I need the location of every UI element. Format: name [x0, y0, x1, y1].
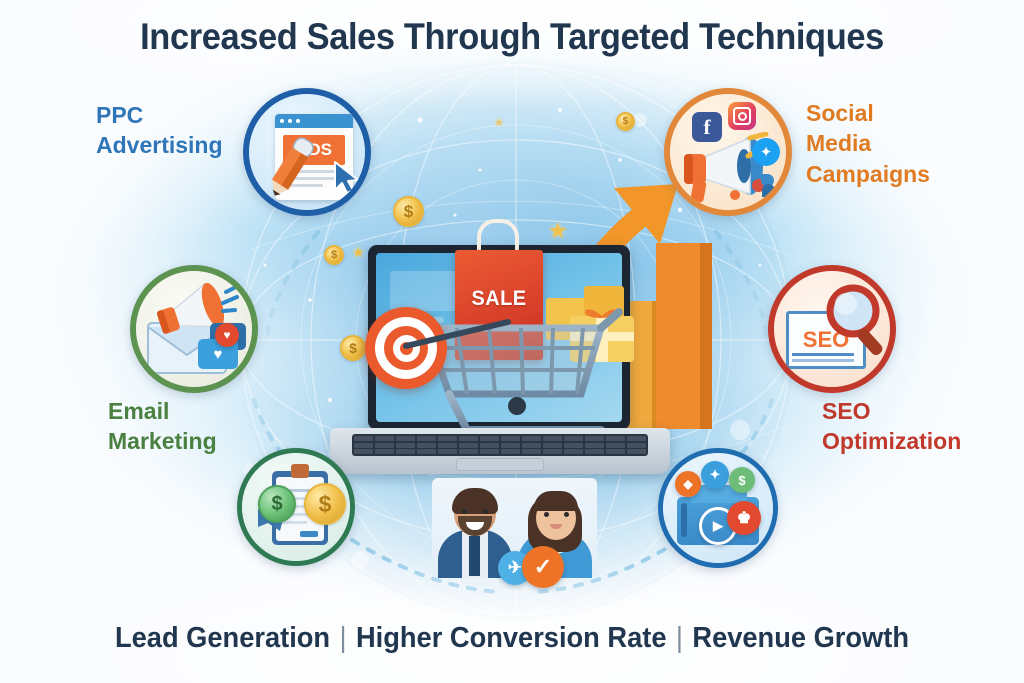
footer-item-higher-conversion-rate: Higher Conversion Rate	[356, 622, 667, 654]
sound-lines-icon	[220, 285, 246, 315]
footer-item-lead-generation: Lead Generation	[115, 622, 330, 654]
infographic-canvas: $ $ $ $ $ $ ★ ★ ★ ★ ★ Increased Sales Th…	[0, 0, 1024, 683]
label-line: Email	[108, 396, 278, 426]
label-line: Advertising	[96, 130, 236, 160]
label-seo-optimization: SEO Optimization	[822, 396, 1002, 457]
tag-badge-icon: ◆	[675, 471, 701, 497]
label-line: Media	[806, 128, 966, 158]
facebook-icon: f	[692, 112, 722, 142]
star-badge-icon: ✦	[701, 461, 729, 489]
coin-icon: $	[616, 112, 635, 131]
node-seo-optimization[interactable]: SEO	[768, 265, 896, 393]
label-email-marketing: Email Marketing	[108, 396, 278, 457]
label-line: Optimization	[822, 426, 1002, 456]
pinwheel-icon	[752, 174, 776, 198]
check-badge-icon: ✓	[522, 546, 564, 588]
money-badge-icon: $	[729, 467, 755, 493]
coin-icon: $	[340, 335, 366, 361]
magnifier-icon	[822, 283, 896, 361]
node-email-marketing[interactable]: ♥ ♥	[130, 265, 258, 393]
twitter-icon: ✦	[752, 138, 780, 166]
dart-arrow-icon	[400, 318, 520, 358]
label-social-media-campaigns: Social Media Campaigns	[806, 98, 966, 189]
footer-separator: |	[330, 622, 356, 654]
footer-item-revenue-growth: Revenue Growth	[692, 622, 909, 654]
node-ppc-advertising[interactable]: ADS	[243, 88, 371, 216]
footer-benefits: Lead Generation|Higher Conversion Rate|R…	[31, 622, 994, 655]
crown-badge-icon: ♚	[727, 501, 761, 535]
node-content-media[interactable]: ▶ ◆ ✦ $ ♚	[658, 448, 778, 568]
coin-icon: $	[324, 245, 344, 265]
cursor-icon	[331, 160, 365, 196]
label-line: Campaigns	[806, 159, 966, 189]
footer-separator: |	[666, 622, 692, 654]
label-line: PPC	[96, 100, 236, 130]
pencil-icon	[261, 132, 321, 204]
page-title: Increased Sales Through Targeted Techniq…	[36, 16, 988, 58]
instagram-icon	[728, 102, 756, 130]
label-line: Marketing	[108, 426, 278, 456]
trackpad	[456, 458, 544, 471]
laptop-keyboard-base	[330, 428, 670, 474]
spark-dot-icon	[730, 190, 740, 200]
star-icon: ★	[352, 244, 365, 261]
label-ppc-advertising: PPC Advertising	[96, 100, 236, 161]
coin-icon: $	[258, 485, 296, 523]
coin-icon: $	[393, 196, 424, 227]
keyboard-icon	[352, 434, 648, 456]
star-icon: ★	[494, 116, 504, 129]
node-lead-generation[interactable]: $ $	[237, 448, 355, 566]
node-social-media-campaigns[interactable]: f ✦	[664, 88, 792, 216]
heart-badge-icon: ♥	[215, 323, 239, 347]
label-line: Social	[806, 98, 966, 128]
coin-icon: $	[304, 483, 346, 525]
label-line: SEO	[822, 396, 1002, 426]
